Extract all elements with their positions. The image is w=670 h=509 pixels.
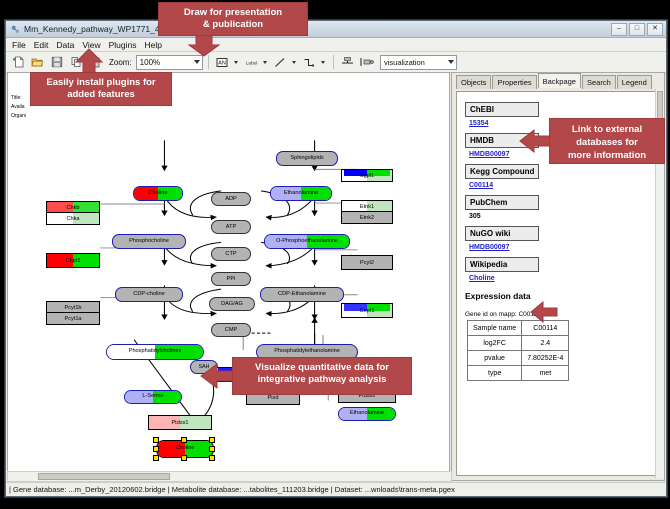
maximize-button[interactable]: □ xyxy=(629,23,645,36)
status-text: | Gene database: ...m_Derby_20120602.bri… xyxy=(9,485,455,494)
metabolite-phosphatidylcholines[interactable]: Phosphatidylcholines xyxy=(106,344,204,360)
zoom-label: Zoom: xyxy=(109,58,132,67)
expression-table: Sample name C00114 log2FC 2.4 pvalue 7.8… xyxy=(467,320,569,381)
annotation-visualize: Visualize quantitative data for integrat… xyxy=(232,357,412,395)
metabolite-o-phosphoethanolamine[interactable]: O-Phosphoethanolamine xyxy=(264,234,350,249)
selection-handle[interactable] xyxy=(181,455,187,461)
db-header-pubchem: PubChem xyxy=(465,195,539,210)
gene-etnk2[interactable]: Etnk2 xyxy=(341,211,393,224)
toolbar-separator xyxy=(208,55,209,69)
metabolite-choline[interactable]: Choline xyxy=(133,186,183,201)
cell-label: log2FC xyxy=(468,336,522,351)
side-panel-tabs: Objects Properties Backpage Search Legen… xyxy=(452,75,664,89)
table-row: log2FC 2.4 xyxy=(468,336,569,351)
annotation-expression-arrow xyxy=(530,300,558,324)
cell-value: 2.4 xyxy=(522,336,569,351)
gene-chpt1[interactable]: Chpt1 xyxy=(46,253,100,268)
toolbar: Zoom: 100% AN Label xyxy=(6,52,666,73)
tab-objects[interactable]: Objects xyxy=(456,75,491,89)
visualization-select[interactable]: visualization xyxy=(380,55,457,70)
new-file-icon[interactable] xyxy=(10,54,27,71)
cell-value: met xyxy=(522,366,569,381)
cofactor-ppi[interactable]: PPi xyxy=(211,272,251,286)
chevron-down-icon[interactable] xyxy=(292,61,296,64)
tab-legend[interactable]: Legend xyxy=(617,75,652,89)
selection-handle[interactable] xyxy=(209,437,215,443)
chevron-down-icon[interactable] xyxy=(234,61,238,64)
menu-item-file[interactable]: File xyxy=(12,40,26,50)
selection-handle[interactable] xyxy=(209,446,215,452)
chevron-down-icon[interactable] xyxy=(263,61,267,64)
tab-backpage[interactable]: Backpage xyxy=(538,73,581,88)
db-header-nugo: NuGO wiki xyxy=(465,226,539,241)
metabolite-cdp-ethanolamine[interactable]: CDP-Ethanolamine xyxy=(260,287,344,302)
menu-item-data[interactable]: Data xyxy=(56,40,74,50)
db-value-pubchem: 305 xyxy=(469,213,647,220)
window-buttons: – □ ✕ xyxy=(611,23,663,36)
line-icon[interactable] xyxy=(272,54,289,71)
db-header-kegg: Kegg Compound xyxy=(465,164,539,179)
annotation-links: Link to external databases for more info… xyxy=(549,118,665,164)
svg-text:Label: Label xyxy=(245,60,256,65)
selection-handle[interactable] xyxy=(153,437,159,443)
zoom-value: 100% xyxy=(140,58,160,67)
align-icon[interactable] xyxy=(339,54,356,71)
metabolite-l-serine-left[interactable]: L-Serine xyxy=(124,390,182,404)
metabolite-ethanolamine-right[interactable]: Ethanolamine xyxy=(338,407,396,421)
selection-handle[interactable] xyxy=(209,455,215,461)
screenshot-root: Mm_Kennedy_pathway_WP1771_45176.gpml – □… xyxy=(0,0,670,509)
chevron-down-icon xyxy=(194,60,200,64)
selection-handle[interactable] xyxy=(153,455,159,461)
annotation-draw-arrow xyxy=(186,35,222,57)
selection-handle[interactable] xyxy=(153,446,159,452)
chevron-down-icon[interactable] xyxy=(321,61,325,64)
canvas-hscrollbar[interactable] xyxy=(7,471,452,482)
db-header-wikipedia: Wikipedia xyxy=(465,257,539,272)
cofactor-atp[interactable]: ATP xyxy=(211,220,251,234)
cell-label: type xyxy=(468,366,522,381)
pathvisio-icon xyxy=(11,25,20,34)
db-link-nugo[interactable]: HMDB00097 xyxy=(469,244,647,251)
annotation-plugins-arrow xyxy=(73,48,105,74)
annotation-links-arrow xyxy=(519,128,551,154)
cofactor-dag-ag[interactable]: DAG/AG xyxy=(209,297,255,311)
db-header-chebi: ChEBI xyxy=(465,102,539,117)
open-folder-icon[interactable] xyxy=(29,54,46,71)
hscrollbar-thumb[interactable] xyxy=(38,473,170,480)
group-icon[interactable] xyxy=(358,54,375,71)
cell-value: 7.80252E-4 xyxy=(522,351,569,366)
annotation-plugins-text: Easily install plugins for added feature… xyxy=(46,77,155,100)
status-bar: | Gene database: ...m_Derby_20120602.bri… xyxy=(6,482,666,496)
metabolite-phosphocholine[interactable]: Phosphocholine xyxy=(112,234,186,249)
gene-cept1[interactable]: Cept1 xyxy=(341,303,393,318)
save-icon[interactable] xyxy=(48,54,65,71)
scrollbar-thumb[interactable] xyxy=(657,91,663,119)
cell-label: Sample name xyxy=(468,321,522,336)
menu-bar: File Edit Data View Plugins Help xyxy=(6,38,666,52)
gene-chka[interactable]: Chka xyxy=(46,212,100,225)
selection-handle[interactable] xyxy=(181,437,187,443)
metabolite-cdp-choline[interactable]: CDP-choline xyxy=(115,287,183,302)
cofactor-ctp[interactable]: CTP xyxy=(211,247,251,261)
annotation-draw-text: Draw for presentation & publication xyxy=(184,7,282,30)
annotation-draw: Draw for presentation & publication xyxy=(158,2,308,36)
menu-item-edit[interactable]: Edit xyxy=(34,40,49,50)
table-row: pvalue 7.80252E-4 xyxy=(468,351,569,366)
gene-pcyt2[interactable]: Pcyt2 xyxy=(341,255,393,270)
gene-pcyt1a[interactable]: Pcyt1a xyxy=(46,312,100,325)
cofactor-cmp[interactable]: CMP xyxy=(211,323,251,337)
annotation-plugins: Easily install plugins for added feature… xyxy=(30,72,172,106)
gene-sgpl1[interactable]: Sgpl1 xyxy=(341,169,393,182)
label-icon[interactable]: Label xyxy=(243,54,260,71)
table-row: type met xyxy=(468,366,569,381)
close-button[interactable]: ✕ xyxy=(647,23,663,36)
connector-icon[interactable] xyxy=(301,54,318,71)
toolbar-separator xyxy=(333,55,334,69)
metabolite-sphingolipids[interactable]: Sphingolipids xyxy=(276,151,338,166)
gene-ptdss1[interactable]: Ptdss1 xyxy=(148,415,212,430)
db-link-wikipedia[interactable]: Choline xyxy=(469,275,647,282)
tab-search[interactable]: Search xyxy=(582,75,616,89)
menu-item-plugins[interactable]: Plugins xyxy=(109,40,137,50)
visualization-value: visualization xyxy=(384,58,425,67)
menu-item-help[interactable]: Help xyxy=(145,40,162,50)
pathway-canvas[interactable]: Title: Availa Organi xyxy=(7,72,450,481)
title-bar: Mm_Kennedy_pathway_WP1771_45176.gpml – □… xyxy=(6,21,666,38)
chevron-down-icon xyxy=(448,60,454,64)
db-link-kegg[interactable]: C00114 xyxy=(469,182,647,189)
minimize-button[interactable]: – xyxy=(611,23,627,36)
tab-properties[interactable]: Properties xyxy=(492,75,536,89)
annotation-visualize-text: Visualize quantitative data for integrat… xyxy=(255,362,389,385)
cell-label: pvalue xyxy=(468,351,522,366)
metabolite-ethanolamine[interactable]: Ethanolamine xyxy=(270,186,332,201)
svg-text:AN: AN xyxy=(218,60,226,66)
annotation-visualize-arrow xyxy=(200,362,236,390)
annotation-links-text: Link to external databases for more info… xyxy=(568,124,646,161)
cofactor-adp[interactable]: ADP xyxy=(211,192,251,206)
